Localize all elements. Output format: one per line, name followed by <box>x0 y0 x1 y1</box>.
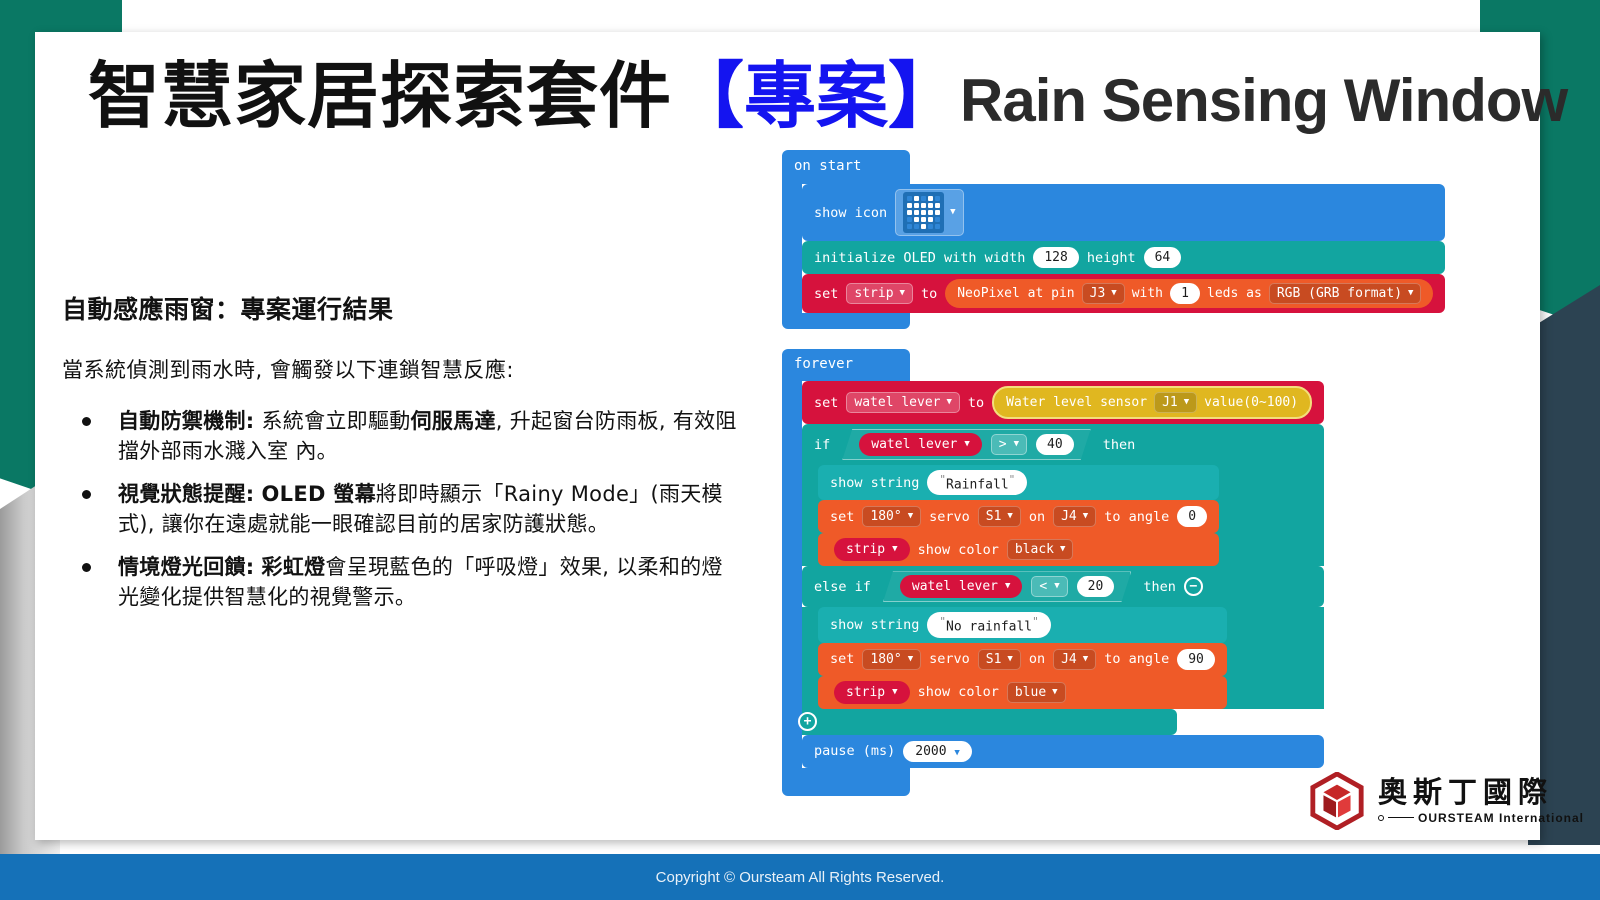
water-variable-dropdown[interactable]: watel lever ▼ <box>846 392 960 413</box>
footer-bar: Copyright © Oursteam All Rights Reserved… <box>0 854 1600 900</box>
to-angle-label: to angle <box>1104 651 1169 667</box>
block-forever[interactable]: forever set watel lever ▼ to Water level… <box>782 349 1445 796</box>
logo-english-wrap: OURSTEAM International <box>1378 811 1584 825</box>
strip-variable-name: strip <box>854 286 893 301</box>
if-condition-hexagon[interactable]: watel lever ▼ > ▼ 40 <box>842 429 1090 460</box>
list-item-text-1: 系統會立即驅動 <box>255 409 411 433</box>
company-logo: 奧斯丁國際 OURSTEAM International <box>1308 772 1584 830</box>
forever-label: forever <box>782 349 910 381</box>
servo-channel-dropdown[interactable]: S1 ▼ <box>978 649 1021 670</box>
then-keyword: then <box>1103 437 1136 453</box>
neopixel-pin-dropdown[interactable]: J3 ▼ <box>1082 283 1125 304</box>
servo-channel-value: S1 <box>986 509 1002 524</box>
servo-keyword: servo <box>929 509 970 525</box>
block-set-servo-90[interactable]: set 180° ▼ servo S1 ▼ on <box>818 643 1227 676</box>
block-set-servo-0[interactable]: set 180° ▼ servo S1 ▼ on <box>818 500 1219 533</box>
strip-color-value: black <box>1015 542 1054 557</box>
elseif-threshold-input[interactable]: 20 <box>1077 576 1115 597</box>
servo-type-value: 180° <box>870 652 901 667</box>
list-item-label: 視覺狀態提醒: <box>118 482 255 506</box>
title-cjk: 智慧家居探索套件 <box>88 53 672 138</box>
feature-list: 自動防禦機制: 系統會立即驅動伺服馬達, 升起窗台防雨板, 有效阻擋外部雨水濺入… <box>62 406 742 613</box>
set-keyword: set <box>814 395 838 411</box>
then-keyword: then <box>1143 579 1176 595</box>
block-if[interactable]: if watel lever ▼ > ▼ 40 <box>802 424 1324 465</box>
elseif-operator-dropdown[interactable]: < ▼ <box>1031 576 1067 597</box>
neopixel-label: NeoPixel at pin <box>957 286 1074 301</box>
chevron-down-icon: ▼ <box>1052 688 1057 697</box>
elseif-variable-name: watel lever <box>912 579 998 594</box>
with-keyword: with <box>1132 286 1163 301</box>
strip-color-value: blue <box>1015 685 1046 700</box>
water-sensor-pin-dropdown[interactable]: J1 ▼ <box>1154 392 1197 413</box>
servo-angle-input[interactable]: 0 <box>1177 506 1207 527</box>
show-string-value: No rainfall <box>946 620 1032 635</box>
chevron-down-icon: ▼ <box>1083 512 1088 521</box>
neopixel-pin-value: J3 <box>1090 286 1106 301</box>
servo-port-value: J4 <box>1061 509 1077 524</box>
servo-port-value: J4 <box>1061 652 1077 667</box>
water-sensor-label: Water level sensor <box>1006 395 1147 410</box>
to-angle-label: to angle <box>1104 509 1169 525</box>
add-branch-icon[interactable]: + <box>798 712 817 731</box>
title-highlight: 【專案】 <box>672 53 960 138</box>
logo-hexagon-icon <box>1308 772 1366 830</box>
set-keyword: set <box>814 286 838 302</box>
strip-variable-dropdown[interactable]: strip ▼ <box>846 283 913 304</box>
water-sensor-pin-value: J1 <box>1162 395 1178 410</box>
if-operator-dropdown[interactable]: > ▼ <box>991 434 1027 455</box>
list-item: 自動防禦機制: 系統會立即驅動伺服馬達, 升起窗台防雨板, 有效阻擋外部雨水濺入… <box>62 406 742 467</box>
servo-type-value: 180° <box>870 509 901 524</box>
if-threshold-input[interactable]: 40 <box>1036 434 1074 455</box>
elseif-body-spine <box>802 607 818 708</box>
set-keyword: set <box>830 509 854 525</box>
rgb-format-value: RGB (GRB format) <box>1277 286 1402 301</box>
on-keyword: on <box>1029 651 1045 667</box>
show-string-label: show string <box>830 475 919 491</box>
block-set-strip[interactable]: set strip ▼ to NeoPixel at pin J3 ▼ <box>802 274 1445 313</box>
block-else-if[interactable]: else if watel lever ▼ < ▼ 20 <box>802 566 1324 607</box>
led-count-input[interactable]: 1 <box>1170 283 1200 304</box>
chevron-down-icon: ▼ <box>1054 582 1059 591</box>
to-keyword: to <box>921 286 937 302</box>
elseif-condition-hexagon[interactable]: watel lever ▼ < ▼ 20 <box>883 571 1131 602</box>
description-column: 自動感應雨窗：專案運行結果 當系統偵測到雨水時, 會觸發以下連鎖智慧反應: 自動… <box>62 290 742 625</box>
block-show-icon[interactable]: show icon ▼ <box>802 184 1445 241</box>
list-item-strong: 伺服馬達 <box>411 409 496 433</box>
if-operator-value: > <box>999 437 1007 452</box>
if-body-spine <box>802 465 818 566</box>
slide-canvas: 智慧家居探索套件【專案】Rain Sensing Window 自動感應雨窗：專… <box>0 0 1600 900</box>
chevron-down-icon: ▼ <box>900 289 905 298</box>
water-sensor-range: value(0~100) <box>1204 395 1298 410</box>
strip-color-dropdown[interactable]: black ▼ <box>1007 539 1074 560</box>
if-keyword: if <box>814 437 830 453</box>
water-variable-name: watel lever <box>854 395 940 410</box>
chevron-down-icon: ▼ <box>908 655 913 664</box>
on-start-label: on start <box>782 150 910 184</box>
servo-port-dropdown[interactable]: J4 ▼ <box>1053 506 1096 527</box>
chevron-down-icon: ▼ <box>1014 440 1019 449</box>
heart-led-matrix-icon <box>903 192 944 233</box>
block-pause[interactable]: pause (ms) 2000 ▼ <box>802 735 1324 768</box>
on-start-stack: show icon ▼ <box>782 184 1445 313</box>
chevron-down-icon: ▼ <box>1408 289 1413 298</box>
leds-as-label: leds as <box>1207 286 1262 301</box>
show-string-input[interactable]: "Rainfall" <box>927 470 1027 495</box>
chevron-down-icon: ▼ <box>1005 582 1010 591</box>
block-show-string-rainfall[interactable]: show string "Rainfall" <box>818 465 1219 500</box>
on-start-spine <box>782 184 802 313</box>
chevron-down-icon: ▼ <box>1007 512 1012 521</box>
chevron-down-icon: ▼ <box>1007 655 1012 664</box>
block-on-start[interactable]: on start show icon <box>782 150 1445 329</box>
chevron-down-icon: ▼ <box>1111 289 1116 298</box>
oled-height-input[interactable]: 64 <box>1144 247 1182 268</box>
rgb-format-dropdown[interactable]: RGB (GRB format) ▼ <box>1269 283 1422 304</box>
logo-english-name: OURSTEAM International <box>1418 811 1584 825</box>
strip-color-dropdown[interactable]: blue ▼ <box>1007 682 1066 703</box>
forever-foot <box>782 768 910 796</box>
list-item-strong: 彩虹燈 <box>261 555 325 579</box>
block-strip-show-color-blue[interactable]: strip ▼ show color blue ▼ <box>818 676 1227 709</box>
remove-branch-icon[interactable]: − <box>1184 577 1203 596</box>
block-initialize-oled[interactable]: initialize OLED with width 128 height 64 <box>802 241 1445 274</box>
elseif-operator-value: < <box>1039 579 1047 594</box>
page-title: 智慧家居探索套件【專案】Rain Sensing Window <box>88 60 1567 132</box>
show-color-label: show color <box>918 684 999 700</box>
pause-value-dropdown[interactable]: 2000 ▼ <box>903 741 972 762</box>
list-item: 視覺狀態提醒: OLED 螢幕將即時顯示「Rainy Mode」(雨天模式), … <box>62 479 742 540</box>
logo-dot-icon <box>1378 815 1384 821</box>
section-heading: 自動感應雨窗：專案運行結果 <box>62 290 742 326</box>
neopixel-reporter[interactable]: NeoPixel at pin J3 ▼ with 1 leds as RGB … <box>945 279 1433 308</box>
servo-channel-dropdown[interactable]: S1 ▼ <box>978 506 1021 527</box>
chevron-down-icon: ▼ <box>954 748 959 758</box>
init-oled-label-2: height <box>1087 250 1136 266</box>
chevron-down-icon: ▼ <box>964 440 969 449</box>
copyright-text: Copyright © Oursteam All Rights Reserved… <box>656 869 945 886</box>
if-variable-name: watel lever <box>871 437 957 452</box>
block-set-water-level[interactable]: set watel lever ▼ to Water level sensor … <box>802 381 1324 424</box>
show-color-label: show color <box>918 542 999 558</box>
show-string-input[interactable]: "No rainfall" <box>927 612 1050 637</box>
pause-value: 2000 <box>915 744 946 759</box>
chevron-down-icon: ▼ <box>1184 398 1189 407</box>
title-english: Rain Sensing Window <box>960 67 1567 134</box>
water-level-sensor-reporter[interactable]: Water level sensor J1 ▼ value(0~100) <box>992 386 1312 419</box>
logo-rule-icon <box>1388 817 1414 819</box>
chevron-down-icon: ▼ <box>1060 545 1065 554</box>
oled-width-input[interactable]: 128 <box>1033 247 1078 268</box>
strip-variable-name: strip <box>846 685 885 700</box>
on-start-foot <box>782 313 910 329</box>
if-body: show string "Rainfall" set 180° ▼ servo <box>802 465 1324 566</box>
servo-angle-input[interactable]: 90 <box>1177 649 1215 670</box>
chevron-down-icon: ▼ <box>892 688 897 697</box>
show-string-value: Rainfall <box>946 477 1009 492</box>
elseif-body: show string "No rainfall" set 180° ▼ ser… <box>802 607 1324 708</box>
forever-spine <box>782 381 802 768</box>
servo-type-dropdown[interactable]: 180° ▼ <box>862 506 921 527</box>
show-icon-label: show icon <box>814 205 887 221</box>
chevron-down-icon: ▼ <box>908 512 913 521</box>
chevron-down-icon: ▼ <box>892 545 897 554</box>
chevron-down-icon: ▼ <box>1083 655 1088 664</box>
to-keyword: to <box>968 395 984 411</box>
logo-chinese-name: 奧斯丁國際 <box>1378 778 1584 807</box>
servo-keyword: servo <box>929 651 970 667</box>
if-block-footer: + <box>802 709 1177 735</box>
block-show-string-no-rainfall[interactable]: show string "No rainfall" <box>818 607 1227 642</box>
list-item-label: 自動防禦機制: <box>118 409 255 433</box>
if-variable-dropdown[interactable]: watel lever ▼ <box>859 433 982 456</box>
list-item-strong: OLED 螢幕 <box>261 482 375 506</box>
servo-channel-value: S1 <box>986 652 1002 667</box>
list-item-label: 情境燈光回饋: <box>118 555 255 579</box>
forever-stack: set watel lever ▼ to Water level sensor … <box>782 381 1445 768</box>
led-pattern-dropdown[interactable]: ▼ <box>895 189 963 236</box>
else-if-keyword: else if <box>814 579 871 595</box>
init-oled-label-1: initialize OLED with width <box>814 250 1025 266</box>
pause-label: pause (ms) <box>814 743 895 759</box>
show-string-label: show string <box>830 617 919 633</box>
chevron-down-icon: ▼ <box>946 398 951 407</box>
chevron-down-icon: ▼ <box>950 208 955 217</box>
strip-variable-dropdown[interactable]: strip ▼ <box>834 538 910 561</box>
section-lead: 當系統偵測到雨水時, 會觸發以下連鎖智慧反應: <box>62 354 742 384</box>
set-keyword: set <box>830 651 854 667</box>
elseif-variable-dropdown[interactable]: watel lever ▼ <box>900 575 1023 598</box>
servo-port-dropdown[interactable]: J4 ▼ <box>1053 649 1096 670</box>
list-item: 情境燈光回饋: 彩虹燈會呈現藍色的「呼吸燈」效果, 以柔和的燈光變化提供智慧化的… <box>62 552 742 613</box>
strip-variable-dropdown[interactable]: strip ▼ <box>834 681 910 704</box>
on-keyword: on <box>1029 509 1045 525</box>
servo-type-dropdown[interactable]: 180° ▼ <box>862 649 921 670</box>
strip-variable-name: strip <box>846 542 885 557</box>
block-strip-show-color-black[interactable]: strip ▼ show color black ▼ <box>818 533 1219 566</box>
makecode-block-program: on start show icon <box>782 150 1445 796</box>
